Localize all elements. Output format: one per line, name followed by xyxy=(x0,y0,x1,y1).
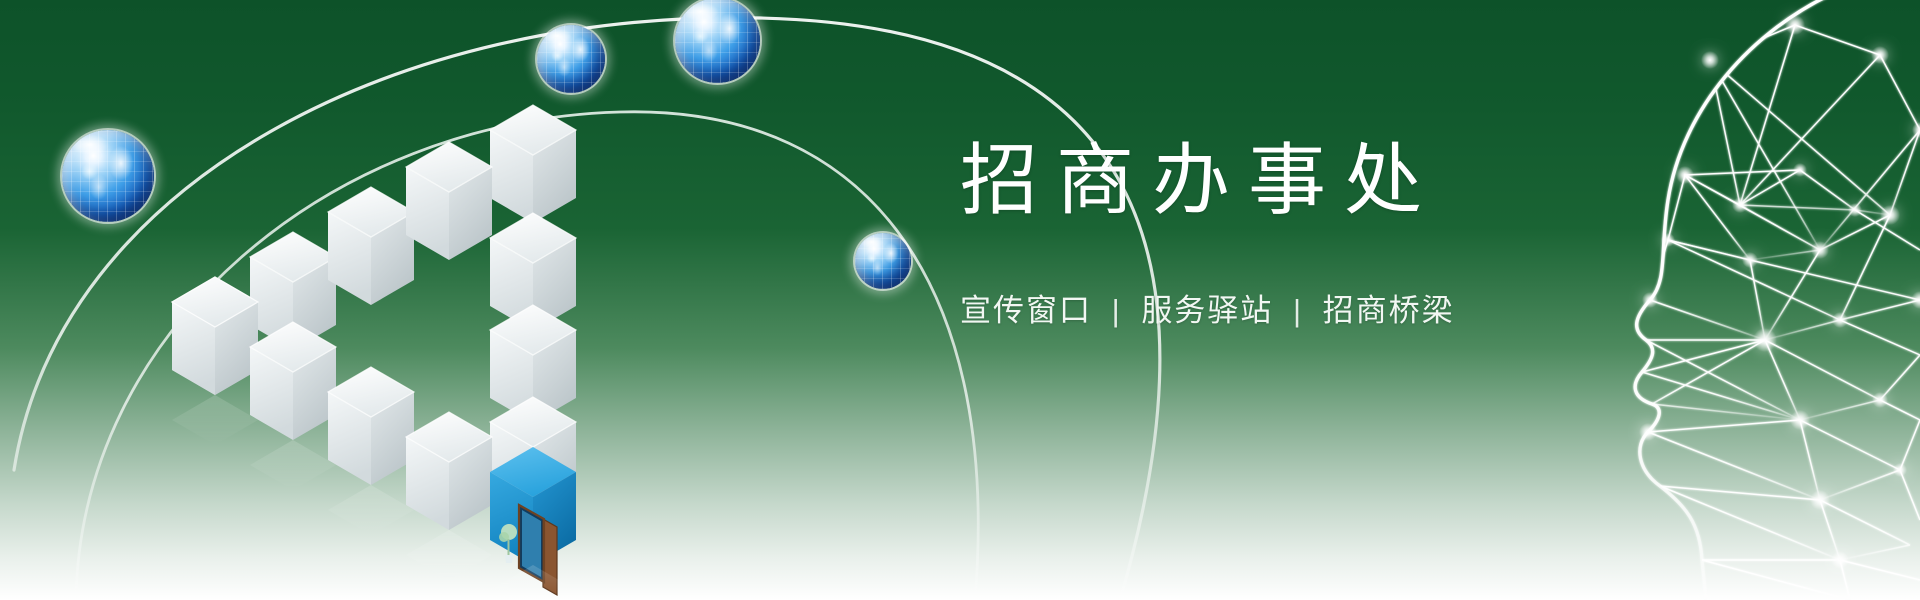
head-silhouette-outline xyxy=(1635,0,1920,600)
globe-left-icon xyxy=(62,130,154,222)
isometric-cube-logo xyxy=(150,95,710,600)
promo-banner: 招商办事处 宣传窗口 | 服务驿站 | 招商桥梁 xyxy=(0,0,1920,600)
banner-title: 招商办事处 xyxy=(960,140,1580,223)
subtitle-part-3: 招商桥梁 xyxy=(1323,293,1455,328)
network-head-profile xyxy=(1590,0,1920,600)
network-mesh-lines xyxy=(1642,25,1920,600)
subtitle-separator-1: | xyxy=(1103,293,1131,328)
globe-lower-right-icon xyxy=(855,233,911,289)
subtitle-part-1: 宣传窗口 xyxy=(960,293,1092,328)
globe-upper-mid-icon xyxy=(537,25,605,93)
banner-text-block: 招商办事处 宣传窗口 | 服务驿站 | 招商桥梁 xyxy=(960,140,1580,330)
banner-subtitle: 宣传窗口 | 服务驿站 | 招商桥梁 xyxy=(960,285,1580,330)
subtitle-separator-2: | xyxy=(1284,293,1312,328)
subtitle-part-2: 服务驿站 xyxy=(1141,293,1273,328)
globe-top-icon xyxy=(675,0,760,83)
